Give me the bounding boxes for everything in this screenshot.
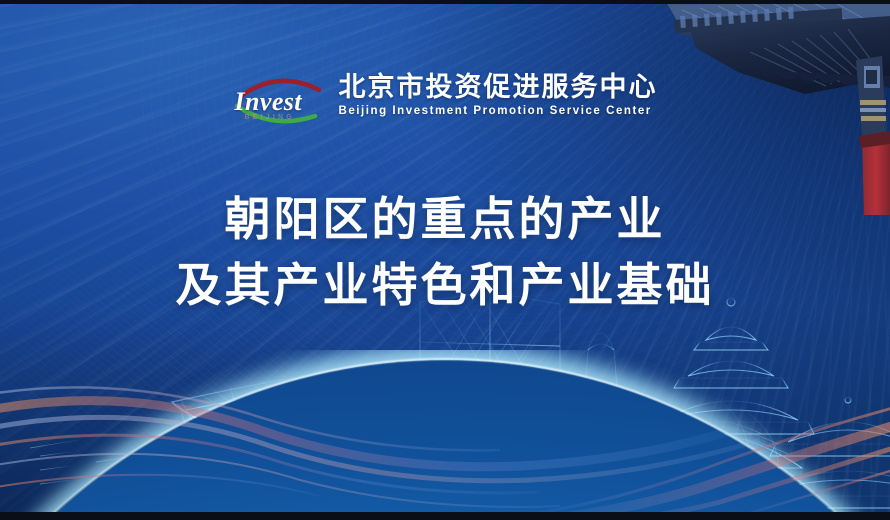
invest-wordmark: Invest	[235, 87, 302, 117]
letterbox-bar-bottom	[0, 512, 890, 520]
invest-logo-mark: Invest BEIJING	[233, 72, 325, 128]
flowing-light-ribbons	[0, 370, 890, 520]
organization-name-cn: 北京市投资促进服务中心	[339, 73, 658, 102]
slide-title: 朝阳区的重点的产业 及其产业特色和产业基础	[0, 186, 890, 318]
title-line-1: 朝阳区的重点的产业	[0, 186, 890, 252]
letterbox-bar-top	[0, 0, 890, 4]
organization-name-en: Beijing Investment Promotion Service Cen…	[339, 105, 658, 118]
brand-lockup: Invest BEIJING 北京市投资促进服务中心 Beijing Inves…	[0, 72, 890, 128]
slide-canvas: Invest BEIJING 北京市投资促进服务中心 Beijing Inves…	[0, 0, 890, 520]
invest-subword: BEIJING	[245, 114, 295, 121]
title-line-2: 及其产业特色和产业基础	[0, 252, 890, 318]
